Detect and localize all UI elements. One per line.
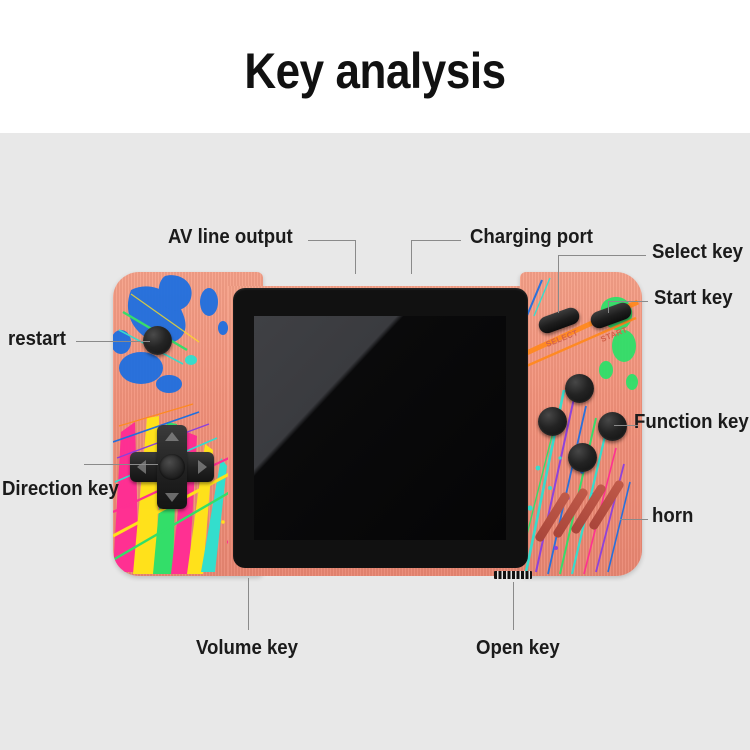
annotation-av-line-output: AV line output <box>168 226 293 249</box>
leader-select-key-v <box>558 255 559 313</box>
dpad-left-arrow-icon <box>137 460 146 474</box>
leader-volume-key-v <box>248 578 249 630</box>
leader-open-key-v <box>513 582 514 630</box>
leader-av-line-output-h <box>308 240 356 241</box>
annotation-horn: horn <box>652 505 693 528</box>
function-button-left[interactable] <box>538 407 567 436</box>
annotation-volume-key: Volume key <box>196 637 298 660</box>
leader-charging-port-v <box>411 240 412 274</box>
function-button-top[interactable] <box>565 374 594 403</box>
dpad-down-arrow-icon <box>165 493 179 502</box>
screen-bezel <box>233 288 528 568</box>
annotation-restart: restart <box>8 328 66 351</box>
leader-start-key-h <box>608 301 648 302</box>
leader-horn-h <box>620 519 648 520</box>
leader-function-key-h <box>614 425 638 426</box>
leader-restart-h <box>76 341 150 342</box>
dpad-center-hub <box>159 454 185 480</box>
leader-direction-key-h <box>84 464 158 465</box>
annotation-function-key: Function key <box>634 411 749 434</box>
screen-display <box>254 316 506 540</box>
direction-pad[interactable] <box>130 425 214 509</box>
annotation-charging-port: Charging port <box>470 226 593 249</box>
leader-charging-port-h <box>411 240 461 241</box>
speaker-horn <box>548 483 640 539</box>
infographic-canvas: Key analysis <box>0 0 750 750</box>
annotation-open-key: Open key <box>476 637 560 660</box>
handheld-console-illustration: SELECT START <box>0 0 750 750</box>
annotation-direction-key: Direction key <box>2 478 119 501</box>
leader-start-key-v <box>608 301 609 313</box>
function-button-bottom[interactable] <box>568 443 597 472</box>
leader-select-key-h <box>558 255 646 256</box>
dpad-right-arrow-icon <box>198 460 207 474</box>
leader-av-line-output-v <box>355 240 356 274</box>
function-button-right[interactable] <box>598 412 627 441</box>
annotation-select-key: Select key <box>652 241 743 264</box>
open-key-switch[interactable] <box>494 571 532 579</box>
dpad-up-arrow-icon <box>165 432 179 441</box>
annotation-start-key: Start key <box>654 287 733 310</box>
